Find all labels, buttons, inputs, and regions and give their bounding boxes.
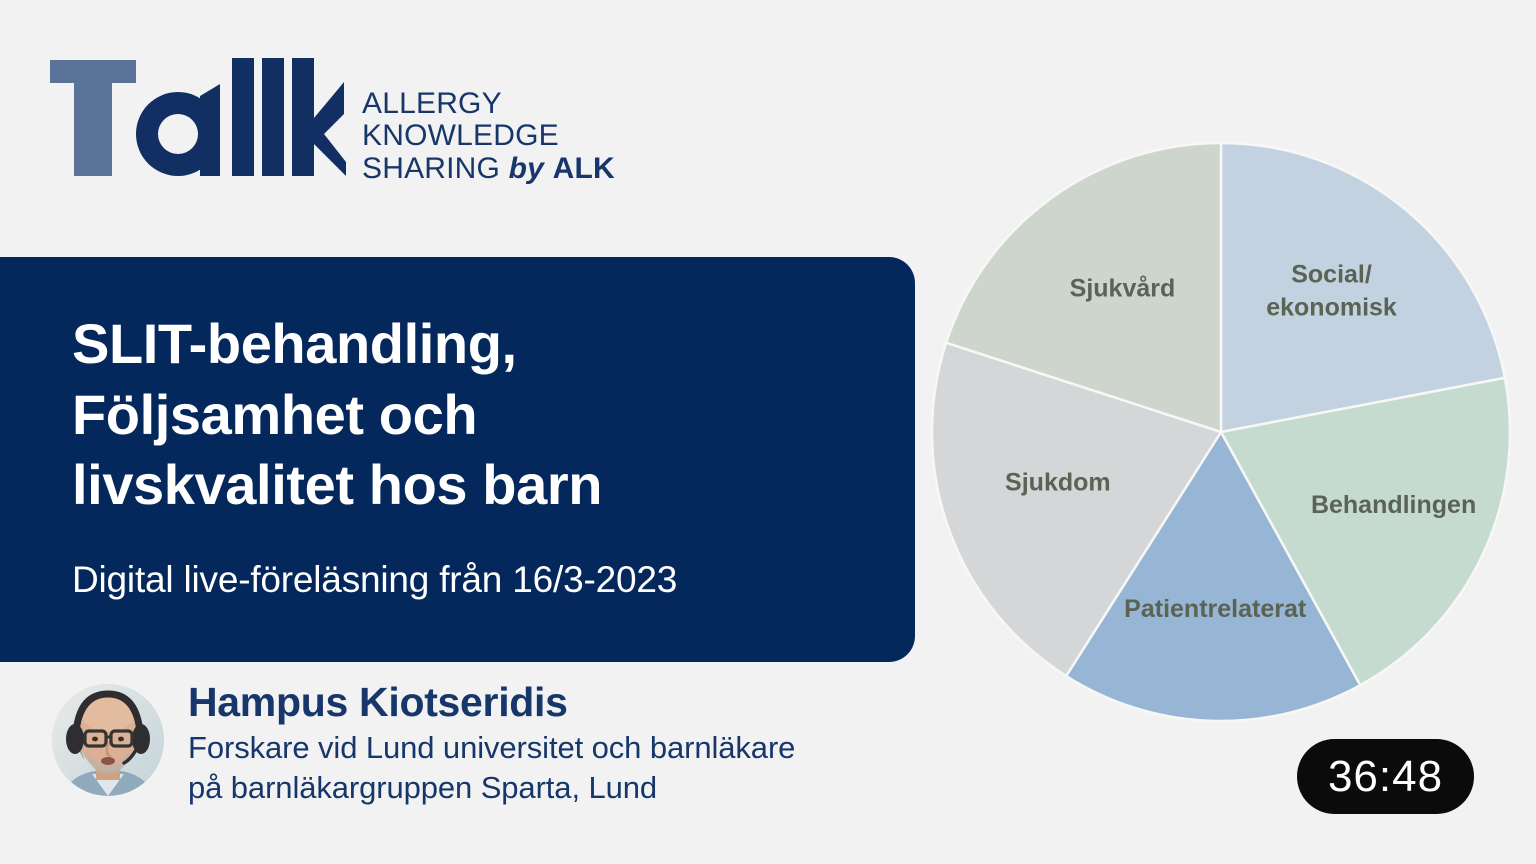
slide-canvas: ALLERGY KNOWLEDGE SHARING by ALK SLIT-be… — [0, 0, 1536, 864]
tagline-by-word: by — [509, 152, 553, 185]
talk-logo: ALLERGY KNOWLEDGE SHARING by ALK — [48, 52, 615, 185]
speaker-role-line-2: på barnläkargruppen Sparta, Lund — [188, 768, 795, 808]
pie-slice-label: Sjukdom — [1005, 469, 1111, 497]
tagline-sharing-word: SHARING — [362, 152, 509, 185]
speaker-block: Hampus Kiotseridis Forskare vid Lund uni… — [52, 684, 795, 807]
logo-tagline: ALLERGY KNOWLEDGE SHARING by ALK — [362, 88, 615, 185]
title-line-3: livskvalitet hos barn — [72, 450, 855, 521]
tagline-line-knowledge: KNOWLEDGE — [362, 120, 615, 152]
title-subtitle: Digital live-föreläsning från 16/3-2023 — [72, 559, 855, 601]
speaker-portrait-icon — [52, 684, 164, 796]
speaker-name: Hampus Kiotseridis — [188, 680, 795, 726]
pie-chart: Social/ekonomiskBehandlingenPatientrelat… — [925, 137, 1520, 732]
title-line-1: SLIT-behandling, — [72, 309, 855, 380]
avatar — [52, 684, 164, 796]
talk-wordmark-icon — [48, 52, 348, 182]
pie-slice-label: Sjukvård — [1070, 274, 1176, 302]
pie-slice-label: Patientrelaterat — [1124, 595, 1307, 623]
title-line-2: Följsamhet och — [72, 380, 855, 451]
title-card: SLIT-behandling, Följsamhet och livskval… — [0, 257, 915, 662]
speaker-text: Hampus Kiotseridis Forskare vid Lund uni… — [188, 680, 795, 807]
tagline-line-allergy: ALLERGY — [362, 88, 615, 120]
speaker-role: Forskare vid Lund universitet och barnlä… — [188, 728, 795, 807]
status-badge: 36:48 — [1297, 739, 1474, 814]
timer-duration: 36:48 — [1328, 755, 1443, 799]
pie-slice-label: Behandlingen — [1311, 491, 1476, 519]
speaker-role-line-1: Forskare vid Lund universitet och barnlä… — [188, 728, 795, 768]
tagline-line-sharing: SHARING by ALK — [362, 153, 615, 185]
pie-chart-svg: Social/ekonomiskBehandlingenPatientrelat… — [925, 137, 1520, 732]
page-title: SLIT-behandling, Följsamhet och livskval… — [72, 309, 855, 521]
tagline-alk-word: ALK — [553, 152, 615, 185]
pie-slice-group — [932, 143, 1510, 721]
